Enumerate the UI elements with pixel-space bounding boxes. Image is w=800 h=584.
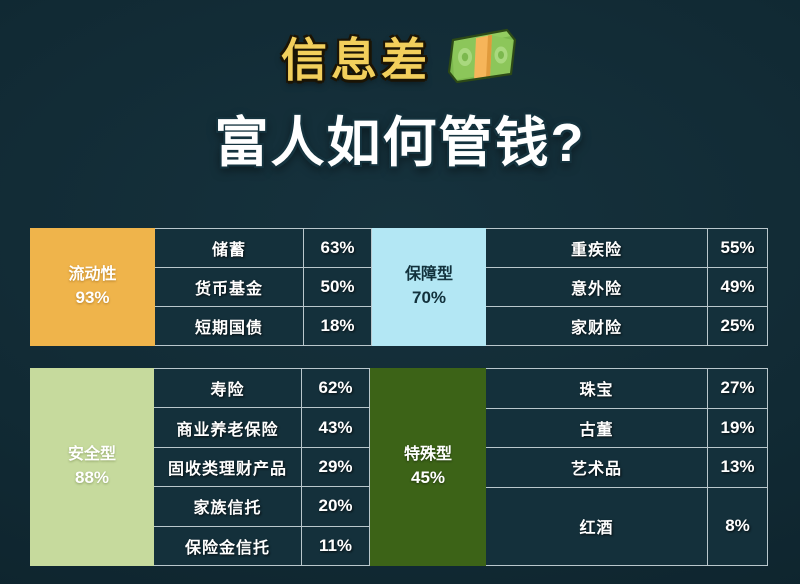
category-block-protection: 保障型 70% 重疾险 55% 意外险 49% 家财险 25% [372, 228, 768, 346]
page-title-main: 信息差 [281, 24, 431, 90]
table-row: 保险金信托 11% [154, 527, 369, 565]
item-label: 家财险 [486, 307, 707, 345]
item-label: 珠宝 [486, 369, 707, 408]
table-row: 短期国债 18% [155, 307, 371, 345]
category-percent: 70% [412, 286, 446, 311]
category-percent: 93% [75, 286, 109, 311]
item-percent: 8% [707, 488, 767, 565]
page-subtitle: 富人如何管钱? [0, 98, 800, 177]
item-percent: 63% [303, 229, 371, 267]
item-label: 家族信托 [154, 487, 301, 525]
item-percent: 62% [301, 369, 369, 407]
item-percent: 11% [301, 527, 369, 565]
table-row: 红酒 8% [486, 488, 767, 565]
item-label: 红酒 [486, 488, 707, 565]
category-name: 特殊型 [404, 443, 452, 466]
table-band-top: 流动性 93% 储蓄 63% 货币基金 50% 短期国债 18% [30, 228, 768, 346]
item-label: 固收类理财产品 [154, 448, 301, 486]
table-row: 家族信托 20% [154, 487, 369, 526]
item-label: 储蓄 [155, 229, 303, 267]
table-row: 寿险 62% [154, 369, 369, 408]
category-block-special: 特殊型 45% 珠宝 27% 古董 19% 艺术品 13% 红酒 8% [370, 368, 768, 566]
category-percent: 88% [75, 466, 109, 491]
item-label: 保险金信托 [154, 527, 301, 565]
category-name: 流动性 [68, 263, 116, 286]
item-percent: 19% [707, 409, 767, 448]
item-grid-liquidity: 储蓄 63% 货币基金 50% 短期国债 18% [155, 228, 372, 346]
item-label: 寿险 [154, 369, 301, 407]
item-label: 重疾险 [486, 229, 707, 267]
poster-root: 信息差 富人如何管钱? [0, 0, 800, 584]
table-row: 重疾险 55% [486, 229, 767, 268]
item-percent: 20% [301, 487, 369, 525]
table-row: 珠宝 27% [486, 369, 767, 409]
item-label: 货币基金 [155, 268, 303, 306]
item-label: 艺术品 [486, 448, 707, 487]
item-grid-protection: 重疾险 55% 意外险 49% 家财险 25% [486, 228, 768, 346]
money-banknotes-icon [445, 26, 519, 88]
item-percent: 55% [707, 229, 767, 267]
item-percent: 13% [707, 448, 767, 487]
item-label: 商业养老保险 [154, 408, 301, 446]
category-header-protection: 保障型 70% [372, 228, 486, 346]
title-row: 信息差 [0, 24, 800, 90]
table-row: 固收类理财产品 29% [154, 448, 369, 487]
item-percent: 43% [301, 408, 369, 446]
category-percent: 45% [411, 466, 445, 491]
category-block-safety: 安全型 88% 寿险 62% 商业养老保险 43% 固收类理财产品 29% 家族… [30, 368, 370, 566]
item-percent: 49% [707, 268, 767, 306]
item-label: 短期国债 [155, 307, 303, 345]
poster-header: 信息差 富人如何管钱? [0, 0, 800, 200]
item-label: 意外险 [486, 268, 707, 306]
item-percent: 18% [303, 307, 371, 345]
category-block-liquidity: 流动性 93% 储蓄 63% 货币基金 50% 短期国债 18% [30, 228, 372, 346]
category-name: 安全型 [68, 443, 116, 466]
category-name: 保障型 [405, 263, 453, 286]
item-percent: 50% [303, 268, 371, 306]
item-percent: 29% [301, 448, 369, 486]
item-grid-special: 珠宝 27% 古董 19% 艺术品 13% 红酒 8% [486, 368, 768, 566]
table-row: 古董 19% [486, 409, 767, 449]
category-header-liquidity: 流动性 93% [30, 228, 155, 346]
category-header-special: 特殊型 45% [370, 368, 486, 566]
table-row: 储蓄 63% [155, 229, 371, 268]
item-label: 古董 [486, 409, 707, 448]
table-row: 意外险 49% [486, 268, 767, 307]
table-row: 艺术品 13% [486, 448, 767, 488]
table-band-bottom: 安全型 88% 寿险 62% 商业养老保险 43% 固收类理财产品 29% 家族… [30, 368, 768, 566]
category-header-safety: 安全型 88% [30, 368, 154, 566]
table-row: 货币基金 50% [155, 268, 371, 307]
item-grid-safety: 寿险 62% 商业养老保险 43% 固收类理财产品 29% 家族信托 20% 保… [154, 368, 370, 566]
table-row: 商业养老保险 43% [154, 408, 369, 447]
item-percent: 25% [707, 307, 767, 345]
table-row: 家财险 25% [486, 307, 767, 345]
item-percent: 27% [707, 369, 767, 408]
